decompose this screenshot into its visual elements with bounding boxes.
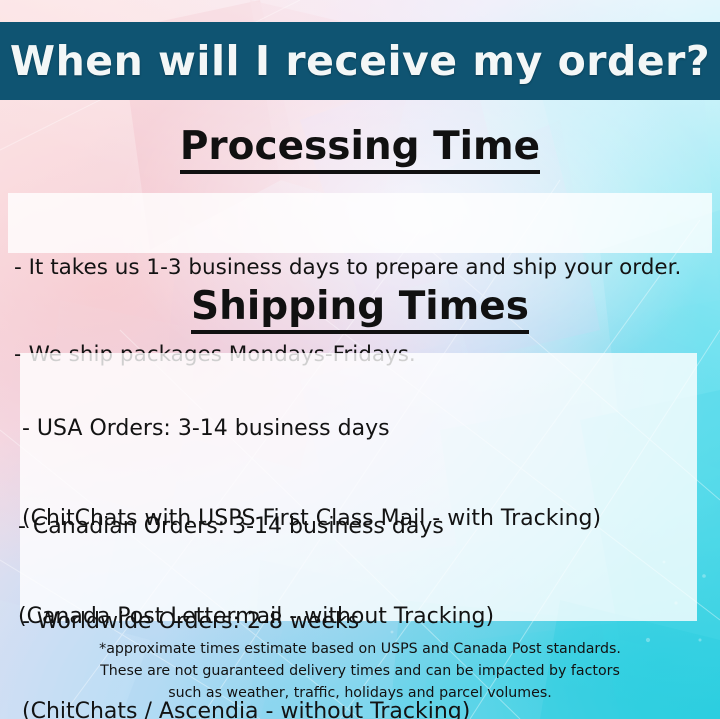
shipping-faq-infographic: When will I receive my order? Processing… <box>0 0 720 719</box>
section-heading-shipping: Shipping Times <box>0 284 720 334</box>
section-heading-processing: Processing Time <box>0 124 720 174</box>
section-heading-shipping-label: Shipping Times <box>191 284 529 334</box>
footnote-disclaimer: *approximate times estimate based on USP… <box>0 638 720 704</box>
shipping-block-usa-line1: - USA Orders: 3-14 business days <box>22 414 601 444</box>
shipping-block-canada-line1: - Canadian Orders: 3-14 business days <box>18 512 494 542</box>
section-heading-processing-label: Processing Time <box>180 124 540 174</box>
header-band: When will I receive my order? <box>0 22 720 100</box>
processing-line-1: - It takes us 1-3 business days to prepa… <box>14 253 681 282</box>
page-title: When will I receive my order? <box>10 37 710 85</box>
shipping-block-worldwide-line1: - Worldwide Orders: 2-8 weeks <box>22 607 470 637</box>
